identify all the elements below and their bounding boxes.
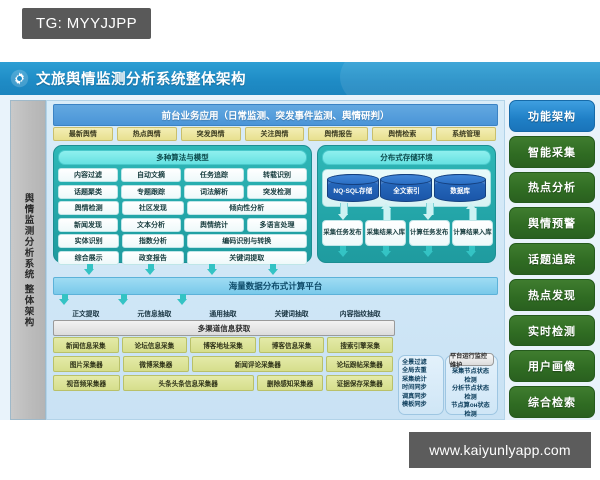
nav-button-row: 最新舆情热点舆情突发舆情关注舆情舆情报告舆情检索系统管理 — [53, 127, 496, 141]
right-nav-sidebar: 功能架构智能采集热点分析舆情预警话题追踪热点发现实时检测用户画像综合检索 — [509, 100, 595, 418]
algorithm-panel-title: 多种算法与模型 — [58, 150, 307, 165]
algorithm-arrow-row — [59, 264, 304, 276]
collector-item[interactable]: 博客信息采集 — [259, 337, 325, 353]
algorithm-cell[interactable]: 文本分析 — [121, 218, 181, 232]
extraction-row: 正文提取元信息抽取通用抽取关键词抽取内容指纹抽取 — [53, 306, 393, 319]
compute-platform-band: 海量数据分布式计算平台 — [53, 277, 498, 295]
algorithm-cell[interactable]: 实体识别 — [58, 234, 119, 248]
architecture-poster: 文旅舆情监测分析系统整体架构 舆情监测分析系统 整体架构 前台业务应用（日常监测… — [0, 62, 600, 420]
nav-button-3[interactable]: 突发舆情 — [181, 127, 241, 141]
collector-item[interactable]: 删除感知采集器 — [257, 375, 324, 391]
arrow-down-icon — [338, 246, 349, 257]
database-cylinder-icon: 全文索引 — [380, 174, 432, 202]
right-nav-item-1[interactable]: 功能架构 — [509, 100, 595, 132]
arrow-down-icon — [118, 294, 129, 305]
nav-button-2[interactable]: 热点舆情 — [117, 127, 177, 141]
collector-row: 视音频采集器头条头条信息采集器删除感知采集器证据保存采集器 — [53, 375, 393, 391]
algorithm-cell[interactable]: 内容过滤 — [58, 168, 118, 182]
algorithm-cell[interactable]: 编码识别与转换 — [187, 234, 308, 248]
site-url-banner: www.kaiyunlyapp.com — [409, 432, 591, 468]
extraction-item: 正文提取 — [53, 306, 119, 319]
algorithm-cell[interactable]: 新闻发现 — [58, 218, 118, 232]
storage-panel-title: 分布式存储环境 — [322, 150, 491, 165]
extraction-item: 通用抽取 — [190, 306, 256, 319]
storage-task: 采集任务发布 — [322, 220, 363, 246]
arrow-down-icon — [145, 264, 156, 275]
storage-task: 计算结果入库 — [452, 220, 493, 246]
algorithm-cell[interactable]: 倾向性分析 — [187, 201, 308, 215]
storage-task-arrow-row — [322, 246, 493, 260]
extraction-item: 关键词抽取 — [259, 306, 325, 319]
right-nav-item-4[interactable]: 舆情预警 — [509, 207, 595, 239]
right-nav-item-7[interactable]: 实时检测 — [509, 315, 595, 347]
storage-panel: 分布式存储环境 NQ-SQL存储全文索引数据库 采集任务发布采集结果入库计算任务… — [317, 145, 496, 263]
platform-monitor-list: 采集节点状态检测分析节点状态检测节点算он状态检测 — [449, 368, 492, 420]
poster-title-bar: 文旅舆情监测分析系统整体架构 — [0, 62, 600, 95]
arrow-down-icon — [423, 246, 434, 257]
platform-monitor-item: 节点算он状态检测 — [449, 402, 492, 419]
global-process-item: 调真同步 — [402, 393, 441, 401]
collector-row: 新闻信息采集论坛信息采集博客地址采集博客信息采集搜索引擎采集 — [53, 337, 393, 353]
global-process-item: 采集统计 — [402, 376, 441, 384]
global-process-item: 模板同步 — [402, 401, 441, 409]
platform-arrow-row — [59, 294, 239, 305]
collector-item[interactable]: 论坛跟帖采集器 — [326, 356, 393, 372]
collector-grid: 新闻信息采集论坛信息采集博客地址采集博客信息采集搜索引擎采集图片采集器微博采集器… — [53, 337, 393, 393]
collector-item[interactable]: 微博采集器 — [123, 356, 190, 372]
database-cylinder-icon: NQ-SQL存储 — [327, 174, 379, 202]
global-process-box: 全景过滤全局去重采集统计时间同步调真同步模板同步 — [398, 355, 444, 415]
arrow-up-icon — [381, 203, 392, 220]
multi-channel-bar: 多渠道信息获取 — [53, 320, 395, 336]
platform-monitor-item: 采集节点状态检测 — [449, 368, 492, 385]
arrow-down-icon — [338, 203, 349, 220]
algorithm-cell[interactable]: 舆情检测 — [58, 201, 119, 215]
algorithm-cell[interactable]: 词法解析 — [184, 185, 244, 199]
algorithm-cell[interactable]: 转载识别 — [247, 168, 307, 182]
nav-button-1[interactable]: 最新舆情 — [53, 127, 113, 141]
database-row: NQ-SQL存储全文索引数据库 — [322, 169, 491, 207]
tg-banner: TG: MYYJJPP — [22, 8, 151, 39]
algorithm-cell[interactable]: 话题聚类 — [58, 185, 118, 199]
right-nav-item-6[interactable]: 热点发现 — [509, 279, 595, 311]
algorithm-cell[interactable]: 任务追踪 — [184, 168, 244, 182]
collector-row: 图片采集器微博采集器新闻评论采集器论坛跟帖采集器 — [53, 356, 393, 372]
database-label: NQ-SQL存储 — [333, 185, 372, 195]
left-banner-label: 舆情监测分析系统 整体架构 — [11, 101, 45, 419]
arrow-down-icon — [84, 264, 95, 275]
collector-item[interactable]: 论坛信息采集 — [122, 337, 188, 353]
algorithm-cell[interactable]: 关键词提取 — [187, 251, 308, 265]
extraction-item: 元信息抽取 — [122, 306, 188, 319]
storage-task: 采集结果入库 — [365, 220, 406, 246]
right-nav-item-9[interactable]: 综合检索 — [509, 386, 595, 418]
collector-item[interactable]: 博客地址采集 — [190, 337, 256, 353]
algorithm-cell[interactable]: 舆情统计 — [184, 218, 244, 232]
algorithm-cell[interactable]: 专题跟踪 — [121, 185, 181, 199]
page-title: 文旅舆情监测分析系统整体架构 — [36, 68, 246, 89]
arrow-down-icon — [268, 264, 279, 275]
algorithm-grid: 内容过滤自动文摘任务追踪转载识别话题聚类专题跟踪词法解析突发检测舆情检测社区发现… — [58, 168, 307, 265]
extraction-item: 内容指纹抽取 — [327, 306, 393, 319]
algorithm-row: 话题聚类专题跟踪词法解析突发检测 — [58, 185, 307, 199]
platform-monitor-item: 分析节点状态检测 — [449, 385, 492, 402]
front-business-band: 前台业务应用（日常监测、突发事件监测、舆情研判） — [53, 104, 498, 126]
platform-monitor-button[interactable]: 平台运行监控维护 — [449, 353, 494, 366]
algorithm-cell[interactable]: 社区发现 — [122, 201, 183, 215]
arrow-up-icon — [466, 203, 477, 220]
database-label: 全文索引 — [393, 185, 419, 195]
arrow-down-icon — [59, 294, 70, 305]
collector-item[interactable]: 图片采集器 — [53, 356, 120, 372]
right-nav-item-3[interactable]: 热点分析 — [509, 172, 595, 204]
collector-item[interactable]: 证据保存采集器 — [326, 375, 393, 391]
right-nav-item-5[interactable]: 话题追踪 — [509, 243, 595, 275]
database-cylinder-icon: 数据库 — [434, 174, 486, 202]
collector-item[interactable]: 新闻评论采集器 — [192, 356, 323, 372]
architecture-main-panel: 前台业务应用（日常监测、突发事件监测、舆情研判） 最新舆情热点舆情突发舆情关注舆… — [46, 100, 505, 420]
algorithm-row: 新闻发现文本分析舆情统计多语言处理 — [58, 218, 307, 232]
storage-arrow-row — [322, 203, 493, 221]
global-process-item: 时间同步 — [402, 384, 441, 392]
algorithm-row: 综合展示政变报告关键词提取 — [58, 251, 307, 265]
algorithm-cell[interactable]: 政变报告 — [122, 251, 183, 265]
storage-task-row: 采集任务发布采集结果入库计算任务发布计算结果入库 — [322, 220, 493, 246]
algorithm-panel: 多种算法与模型 内容过滤自动文摘任务追踪转载识别话题聚类专题跟踪词法解析突发检测… — [53, 145, 312, 263]
global-process-list: 全景过滤全局去重采集统计时间同步调真同步模板同步 — [399, 356, 443, 409]
algorithm-row: 舆情检测社区发现倾向性分析 — [58, 201, 307, 215]
algorithm-cell[interactable]: 指数分析 — [122, 234, 183, 248]
right-nav-item-2[interactable]: 智能采集 — [509, 136, 595, 168]
gear-icon — [10, 69, 29, 88]
collector-item[interactable]: 新闻信息采集 — [53, 337, 119, 353]
global-process-item: 全局去重 — [402, 367, 441, 375]
nav-button-5[interactable]: 舆情报告 — [308, 127, 368, 141]
storage-task: 计算任务发布 — [409, 220, 450, 246]
algorithm-cell[interactable]: 综合展示 — [58, 251, 119, 265]
algorithm-row: 实体识别指数分析编码识别与转换 — [58, 234, 307, 248]
nav-button-6[interactable]: 舆情检索 — [372, 127, 432, 141]
arrow-down-icon — [466, 246, 477, 257]
arrow-down-icon — [381, 246, 392, 257]
algorithm-cell[interactable]: 自动文摘 — [121, 168, 181, 182]
algorithm-row: 内容过滤自动文摘任务追踪转载识别 — [58, 168, 307, 182]
nav-button-4[interactable]: 关注舆情 — [245, 127, 305, 141]
nav-button-7[interactable]: 系统管理 — [436, 127, 496, 141]
arrow-down-icon — [423, 203, 434, 220]
right-nav-item-8[interactable]: 用户画像 — [509, 350, 595, 382]
collector-item[interactable]: 搜索引擎采集 — [327, 337, 393, 353]
arrow-down-icon — [177, 294, 188, 305]
algorithm-cell[interactable]: 突发检测 — [247, 185, 307, 199]
algorithm-cell[interactable]: 多语言处理 — [247, 218, 307, 232]
left-vertical-banner: 舆情监测分析系统 整体架构 — [10, 100, 46, 420]
database-label: 数据库 — [450, 185, 470, 195]
arrow-down-icon — [207, 264, 218, 275]
collector-item[interactable]: 头条头条信息采集器 — [123, 375, 254, 391]
collector-item[interactable]: 视音频采集器 — [53, 375, 120, 391]
